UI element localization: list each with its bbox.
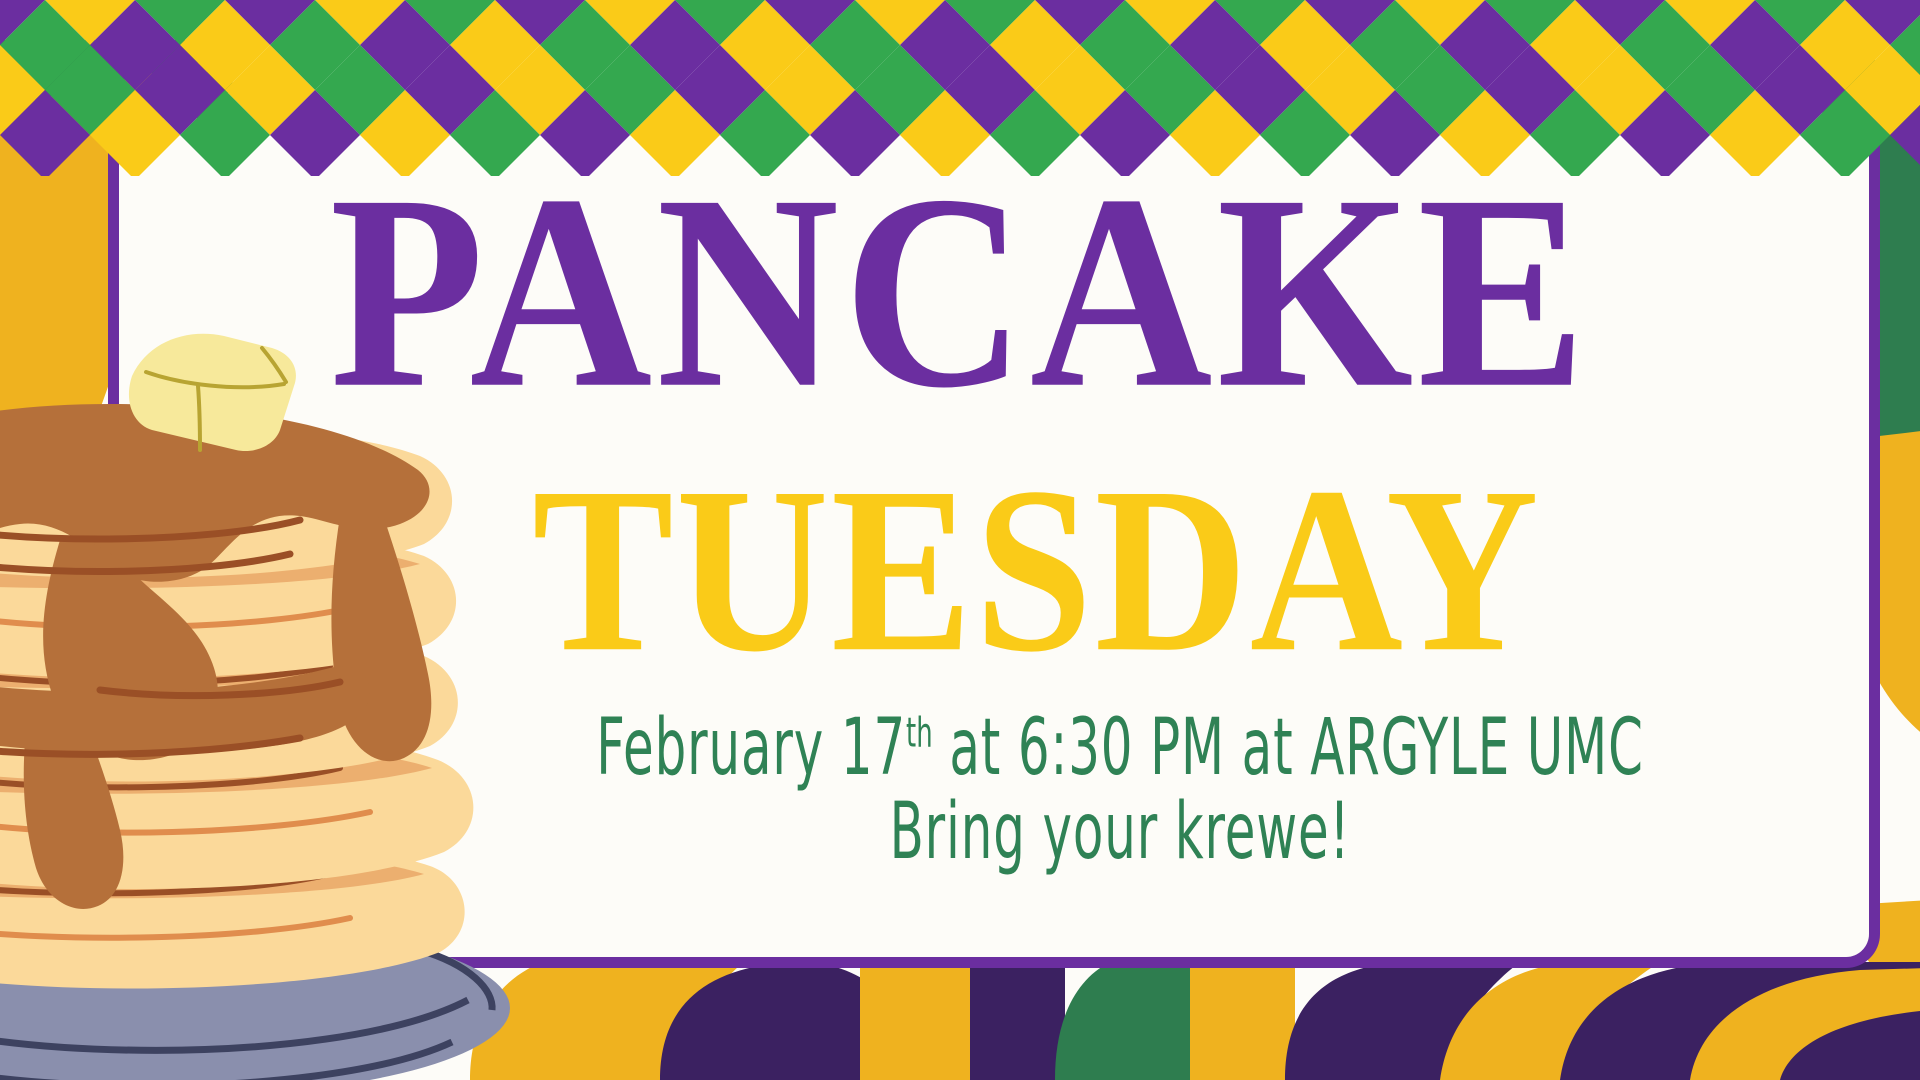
pancake-stack-illustration bbox=[0, 0, 1920, 1080]
poster-canvas: PANCAKE TUESDAY February 17th at 6:30 PM… bbox=[0, 0, 1920, 1080]
pancake-stack bbox=[0, 334, 473, 989]
